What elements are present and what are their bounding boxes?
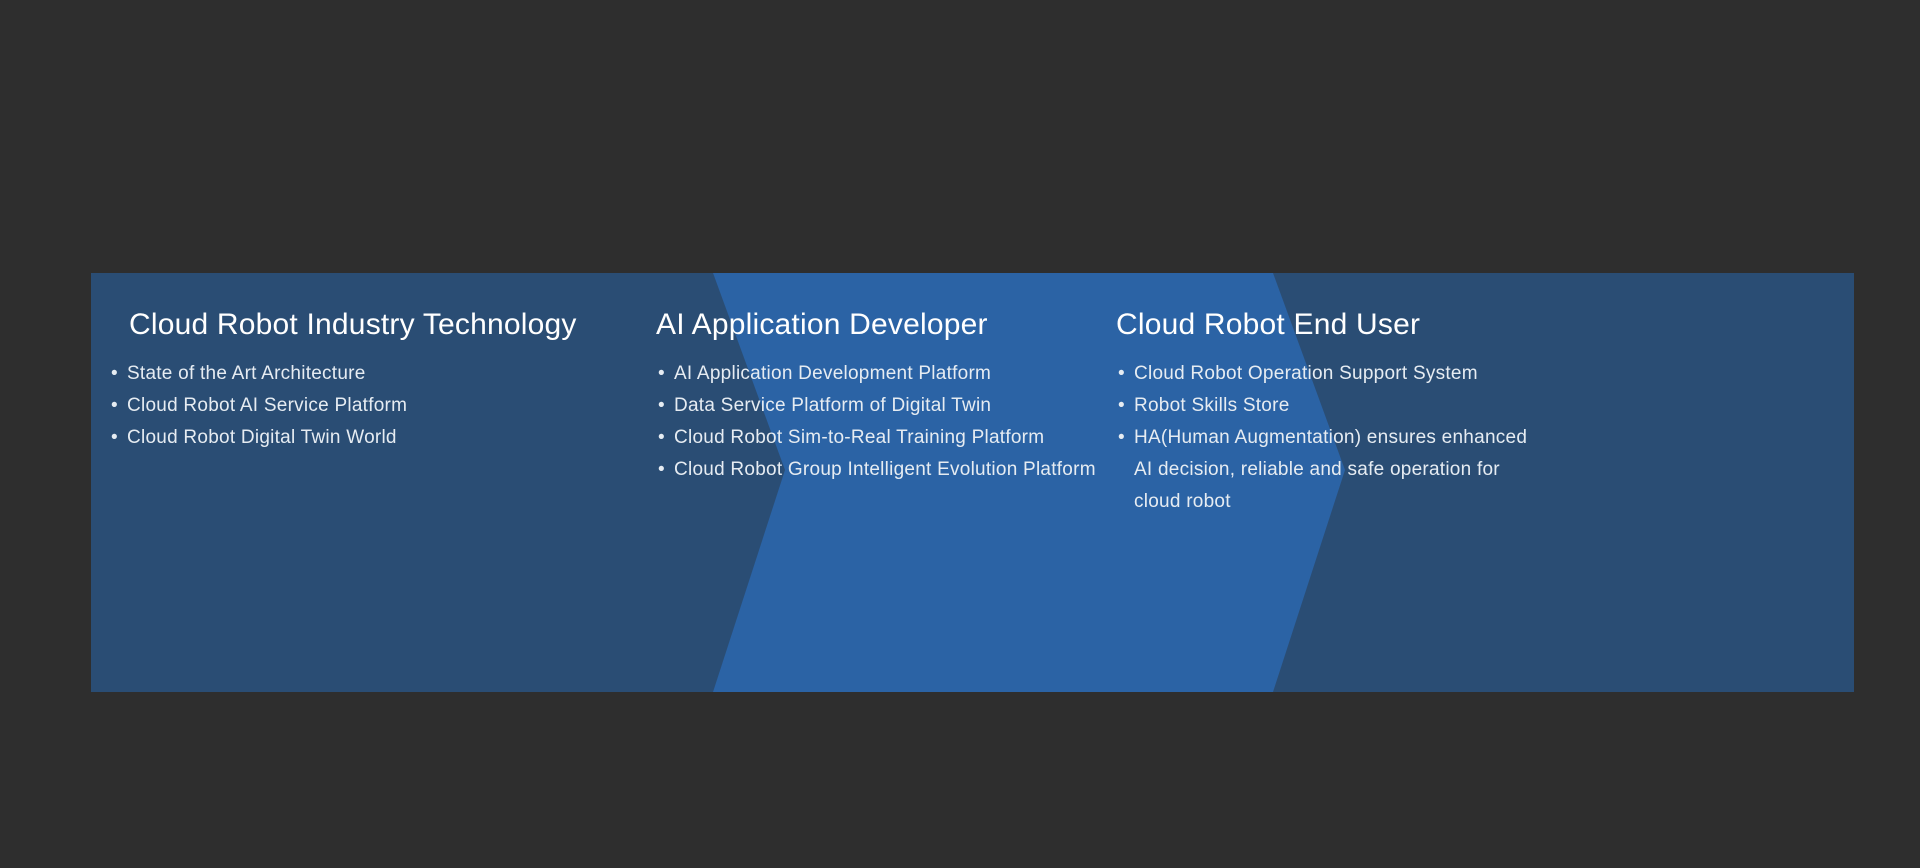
bullet-icon: • — [1118, 422, 1125, 454]
process-chevron-banner: Cloud Robot Industry Technology • State … — [91, 273, 1854, 692]
panel-3-bullet-list: • Cloud Robot Operation Support System •… — [1116, 358, 1534, 518]
bullet-icon: • — [1118, 390, 1125, 422]
list-item-label: Robot Skills Store — [1134, 395, 1290, 416]
list-item-label: Cloud Robot Sim-to-Real Training Platfor… — [674, 427, 1044, 448]
bullet-icon: • — [111, 390, 118, 422]
panel-1-bullet-list: • State of the Art Architecture • Cloud … — [109, 358, 407, 454]
bullet-icon: • — [111, 358, 118, 390]
list-item-label: Cloud Robot Group Intelligent Evolution … — [674, 459, 1096, 480]
list-item: • Robot Skills Store — [1116, 390, 1534, 422]
list-item-label: State of the Art Architecture — [127, 363, 366, 384]
panel-2-heading: AI Application Developer — [656, 308, 988, 342]
list-item-label: AI Application Development Platform — [674, 363, 991, 384]
list-item-label: Cloud Robot Digital Twin World — [127, 427, 397, 448]
list-item: • HA(Human Augmentation) ensures enhance… — [1116, 422, 1534, 518]
list-item: • Cloud Robot AI Service Platform — [109, 390, 407, 422]
list-item: • Cloud Robot Operation Support System — [1116, 358, 1534, 390]
list-item-label: Cloud Robot AI Service Platform — [127, 395, 407, 416]
list-item: • Cloud Robot Sim-to-Real Training Platf… — [656, 422, 1096, 454]
panel-1-heading: Cloud Robot Industry Technology — [129, 308, 577, 342]
panel-3-heading: Cloud Robot End User — [1116, 308, 1420, 342]
list-item-label: Data Service Platform of Digital Twin — [674, 395, 991, 416]
bullet-icon: • — [658, 422, 665, 454]
panel-2-bullet-list: • AI Application Development Platform • … — [656, 358, 1096, 486]
list-item: • State of the Art Architecture — [109, 358, 407, 390]
list-item: • Data Service Platform of Digital Twin — [656, 390, 1096, 422]
list-item: • Cloud Robot Digital Twin World — [109, 422, 407, 454]
list-item: • AI Application Development Platform — [656, 358, 1096, 390]
bullet-icon: • — [111, 422, 118, 454]
bullet-icon: • — [658, 454, 665, 486]
bullet-icon: • — [658, 390, 665, 422]
list-item: • Cloud Robot Group Intelligent Evolutio… — [656, 454, 1096, 486]
panel-cloud-robot-end-user: Cloud Robot End User • Cloud Robot Opera… — [1116, 273, 1854, 692]
list-item-label: HA(Human Augmentation) ensures enhanced … — [1134, 427, 1527, 512]
bullet-icon: • — [658, 358, 665, 390]
list-item-label: Cloud Robot Operation Support System — [1134, 363, 1478, 384]
bullet-icon: • — [1118, 358, 1125, 390]
